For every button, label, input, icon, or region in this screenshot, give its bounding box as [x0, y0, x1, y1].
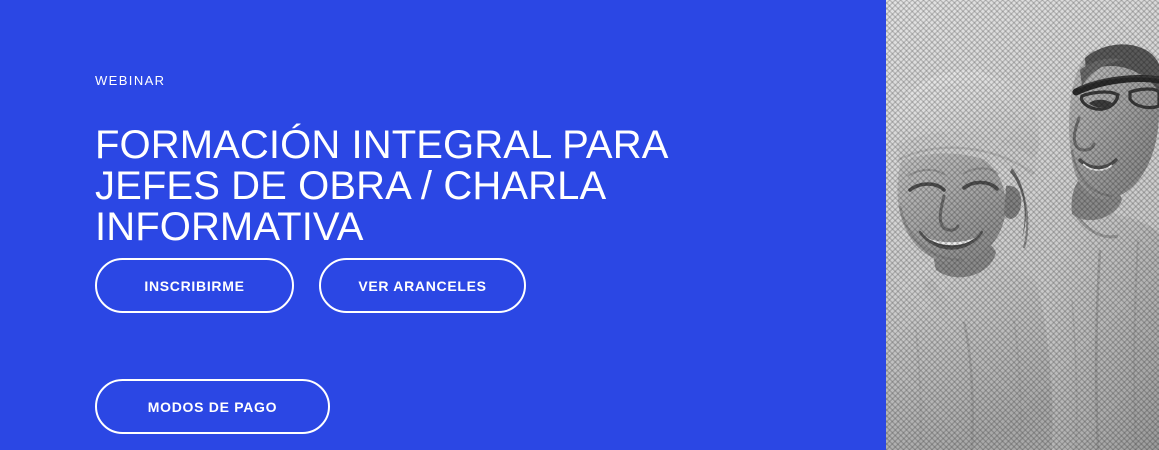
photo-illustration: [886, 0, 1159, 450]
banner-photo: [886, 0, 1159, 450]
page-title: FORMACIÓN INTEGRAL PARA JEFES DE OBRA / …: [95, 125, 715, 248]
secondary-action-row: MODOS DE PAGO: [95, 379, 330, 434]
webinar-promo-banner: WEBINAR FORMACIÓN INTEGRAL PARA JEFES DE…: [0, 0, 1159, 450]
eyebrow-label: WEBINAR: [95, 72, 165, 90]
headline-line-1: FORMACIÓN INTEGRAL PARA: [95, 125, 715, 166]
headline-line-2: JEFES DE OBRA / CHARLA: [95, 166, 715, 207]
primary-action-row: INSCRIBIRME VER ARANCELES: [95, 258, 526, 313]
modos-de-pago-button[interactable]: MODOS DE PAGO: [95, 379, 330, 434]
ver-aranceles-button[interactable]: VER ARANCELES: [319, 258, 526, 313]
banner-blue-panel: WEBINAR FORMACIÓN INTEGRAL PARA JEFES DE…: [0, 0, 886, 450]
inscribirme-button[interactable]: INSCRIBIRME: [95, 258, 294, 313]
headline-line-3: INFORMATIVA: [95, 207, 715, 248]
